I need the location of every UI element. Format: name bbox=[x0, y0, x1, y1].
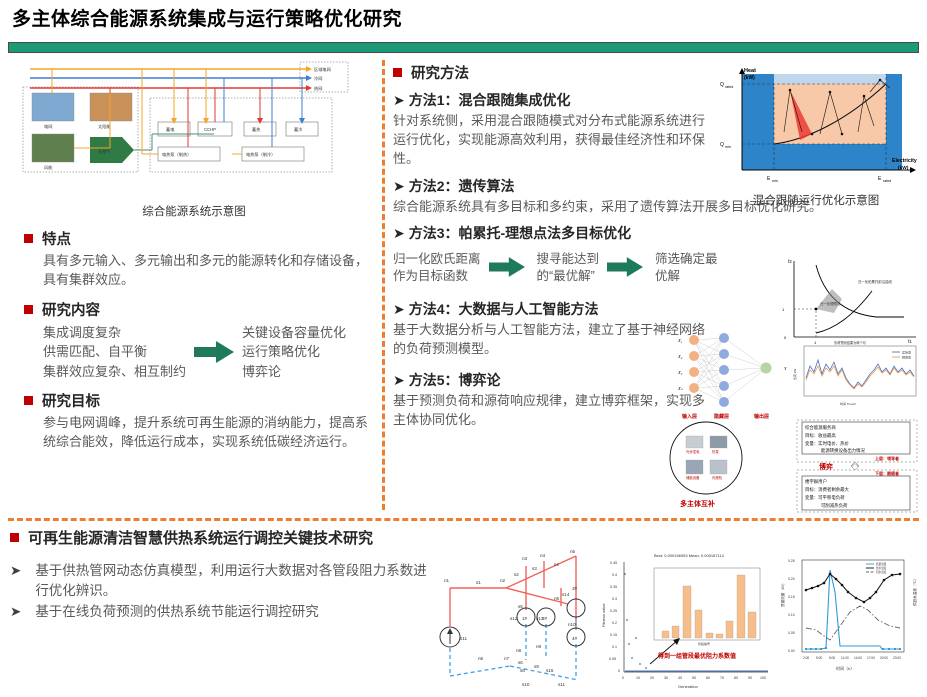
section-features-heading-text: 特点 bbox=[42, 228, 71, 249]
svg-text:s1: s1 bbox=[476, 580, 481, 585]
svg-text:目标：收益最高: 目标：收益最高 bbox=[805, 432, 836, 439]
bottom-list: ➤ 基于供热管网动态仿真模型，利用运行大数据对各管段阻力系数进行优化辨识。 ➤ … bbox=[10, 561, 430, 622]
svg-text:23:00: 23:00 bbox=[893, 656, 901, 660]
content-right-line-3: 博弈论 bbox=[242, 362, 346, 382]
method-3-flow: 归一化欧氏距离作为目标函数 搜寻能达到的“最优解” 筛选确定最优解 bbox=[393, 251, 713, 285]
left-column: 区域电网 冷网 热网 电网 太阳能 风能 天然气 蓄电 CCHP bbox=[10, 60, 378, 452]
figure-hybrid-following: Heat (kW) Q rated Q min E min E rated El… bbox=[712, 62, 920, 187]
bullet-square-icon bbox=[24, 234, 33, 243]
svg-text:min: min bbox=[725, 145, 731, 149]
figure-multi-agent-circle: 光伏发电 热泵 储能设备 内燃机 多主体互补 bbox=[648, 418, 764, 510]
svg-text:内燃机: 内燃机 bbox=[712, 475, 723, 480]
svg-text:0.00: 0.00 bbox=[788, 649, 795, 653]
vertical-divider bbox=[382, 60, 385, 510]
section-content-heading: 研究内容 bbox=[24, 299, 378, 320]
svg-text:s9: s9 bbox=[534, 664, 539, 669]
bottom-list-item: ➤ 基于在线负荷预测的供热系统节能运行调控研究 bbox=[10, 602, 430, 622]
svg-text:20:00: 20:00 bbox=[880, 656, 888, 660]
source-label-gas: 天然气 bbox=[98, 148, 111, 155]
svg-text:Q: Q bbox=[720, 82, 724, 88]
svg-text:60: 60 bbox=[706, 676, 710, 680]
section-features: 特点 具有多元输入、多元输出和多元的能源转化和存储设备，具有集群效应。 bbox=[10, 228, 378, 290]
source-label-wind: 风能 bbox=[44, 164, 53, 171]
svg-text:s15: s15 bbox=[546, 668, 554, 673]
svg-text:14:00: 14:00 bbox=[854, 656, 862, 660]
svg-text:90: 90 bbox=[748, 676, 752, 680]
section-features-body: 具有多元输入、多元输出和多元的能源转化和存储设备，具有集群效应。 bbox=[43, 252, 378, 290]
svg-text:0.35: 0.35 bbox=[610, 585, 617, 589]
green-arrow-icon bbox=[489, 257, 529, 279]
svg-text:综合能源服务商: 综合能源服务商 bbox=[805, 424, 836, 431]
chevron-right-icon: ➤ bbox=[10, 602, 21, 622]
svg-text:质量流量: 质量流量 bbox=[876, 562, 887, 566]
svg-text:(kW): (kW) bbox=[744, 75, 755, 81]
figure-stackelberg-game: 综合能源服务商 目标：收益最高 变量：实时电价、热价 能源转换设备出力情况 上层… bbox=[795, 418, 921, 514]
section-goals-heading-text: 研究目标 bbox=[42, 390, 100, 411]
svg-text:供回水温度（°C）: 供回水温度（°C） bbox=[912, 577, 917, 606]
flow-step-3: 筛选确定最优解 bbox=[655, 251, 718, 285]
svg-text:时间 Time/h: 时间 Time/h bbox=[840, 401, 856, 406]
svg-text:负荷 kW: 负荷 kW bbox=[792, 369, 797, 380]
svg-text:s11: s11 bbox=[558, 682, 566, 687]
svg-text:0.15: 0.15 bbox=[610, 633, 617, 637]
svg-text:80: 80 bbox=[734, 676, 738, 680]
svg-text:17:00: 17:00 bbox=[867, 656, 875, 660]
svg-text:供水温度: 供水温度 bbox=[876, 566, 887, 570]
section-content-heading-text: 研究内容 bbox=[42, 299, 100, 320]
svg-text:上层：领导者: 上层：领导者 bbox=[875, 455, 899, 461]
flow-step-1: 归一化欧氏距离作为目标函数 bbox=[393, 251, 481, 285]
svg-text:0.10: 0.10 bbox=[788, 613, 795, 617]
horizontal-divider bbox=[8, 518, 919, 521]
content-right-line-2: 运行策略优化 bbox=[242, 342, 346, 362]
ga-annotation: 得到一组管段最优阻力系数值 bbox=[657, 652, 736, 660]
svg-text:11:00: 11:00 bbox=[841, 656, 849, 660]
svg-text:3#: 3# bbox=[572, 586, 578, 591]
svg-text:30: 30 bbox=[664, 676, 668, 680]
svg-text:2#: 2# bbox=[542, 616, 548, 621]
method-3-label: ➤方法3：帕累托-理想点法多目标优化 bbox=[393, 223, 713, 243]
svg-text:100: 100 bbox=[760, 676, 766, 680]
chevron-right-icon: ➤ bbox=[393, 225, 405, 241]
svg-text:0.2: 0.2 bbox=[612, 621, 617, 625]
methods-heading-text: 研究方法 bbox=[411, 62, 469, 83]
green-arrow-icon bbox=[194, 341, 234, 363]
svg-text:0.4: 0.4 bbox=[612, 573, 617, 577]
device-label-coldstore: 蓄冷 bbox=[294, 126, 302, 133]
svg-text:归一化理想点: 归一化理想点 bbox=[820, 301, 841, 306]
svg-text:20: 20 bbox=[650, 676, 654, 680]
content-left-line-1: 集成调度复杂 bbox=[43, 323, 186, 343]
svg-text:s3: s3 bbox=[532, 566, 537, 571]
svg-text:Electricity: Electricity bbox=[892, 158, 917, 164]
svg-text:变量：实时电价、热价: 变量：实时电价、热价 bbox=[805, 440, 850, 447]
device-label-cchp: CCHP bbox=[204, 127, 216, 132]
svg-text:2:00: 2:00 bbox=[803, 656, 809, 660]
nn-input-3: X₃ bbox=[677, 370, 683, 375]
method-4-label: ➤方法4：大数据与人工智能方法 bbox=[393, 299, 713, 319]
svg-text:8:00: 8:00 bbox=[829, 656, 835, 660]
svg-text:质量流量（t/h）: 质量流量（t/h） bbox=[780, 581, 785, 607]
bullet-square-icon bbox=[10, 533, 19, 542]
svg-text:储能设备: 储能设备 bbox=[686, 475, 700, 480]
figure-hybrid-caption: 混合跟随运行优化示意图 bbox=[712, 192, 920, 208]
section-goals: 研究目标 参与电网调峰，提升系统可再生能源的消纳能力，提高系统综合能效，降低运行… bbox=[10, 390, 378, 452]
svg-text:变量：可平移电负荷: 变量：可平移电负荷 bbox=[805, 494, 845, 501]
section-content-flow: 集成调度复杂 供需匹配、自平衡 集群效应复杂、相互制约 关键设备容量优化 运行策… bbox=[43, 323, 378, 382]
content-col-right: 关键设备容量优化 运行策略优化 博弈论 bbox=[242, 323, 346, 382]
chevron-right-icon: ➤ bbox=[393, 92, 405, 108]
bullet-square-icon bbox=[24, 305, 33, 314]
energy-system-diagram-caption: 综合能源系统示意图 bbox=[10, 203, 378, 219]
figure-load-forecast: 实际值 预测值 负荷预测结果为两个月 时间 Time/h 负荷 kW bbox=[788, 340, 920, 410]
method-2-label: ➤方法2：遗传算法 bbox=[393, 176, 713, 196]
svg-text:负荷预测结果为两个月: 负荷预测结果为两个月 bbox=[834, 340, 866, 345]
device-label-battery: 蓄电 bbox=[166, 126, 175, 133]
figure-heating-timeseries: 0.250.20 0.150.10 0.050.00 2:005:00 8:00… bbox=[778, 548, 923, 693]
section-content: 研究内容 集成调度复杂 供需匹配、自平衡 集群效应复杂、相互制约 关键设备容量优… bbox=[10, 299, 378, 382]
method-1-label: ➤方法1：混合跟随集成优化 bbox=[393, 90, 713, 110]
page-title: 多主体综合能源系统集成与运行策略优化研究 bbox=[12, 4, 402, 31]
svg-text:s10: s10 bbox=[522, 682, 530, 687]
content-right-line-1: 关键设备容量优化 bbox=[242, 323, 346, 343]
svg-text:rated: rated bbox=[725, 85, 733, 89]
svg-text:0.15: 0.15 bbox=[788, 595, 795, 599]
svg-text:可削减热负荷: 可削减热负荷 bbox=[821, 502, 848, 509]
svg-text:n6: n6 bbox=[478, 656, 484, 661]
content-left-line-2: 供需匹配、自平衡 bbox=[43, 342, 186, 362]
svg-text:s5: s5 bbox=[518, 604, 523, 609]
svg-text:40: 40 bbox=[678, 676, 682, 680]
nn-output: Y bbox=[784, 366, 787, 371]
header-accent-bar bbox=[8, 42, 919, 53]
svg-text:楼宇群用户: 楼宇群用户 bbox=[805, 478, 827, 485]
svg-text:能源转换设备出力情况: 能源转换设备出力情况 bbox=[821, 447, 866, 454]
svg-text:0.25: 0.25 bbox=[610, 609, 617, 613]
svg-text:0.3: 0.3 bbox=[612, 597, 617, 601]
method-1-body: 针对系统侧，采用混合跟随模式对分布式能源系统进行运行优化，实现能源高效利用，获得… bbox=[393, 112, 713, 169]
svg-text:0.45: 0.45 bbox=[610, 561, 617, 565]
svg-text:时间（h）: 时间（h） bbox=[836, 665, 854, 671]
figure-ga-fitness: Best: 0.000156953 Mean: 0.000187114 0.45… bbox=[596, 548, 776, 693]
svg-text:n5: n5 bbox=[570, 549, 576, 554]
svg-text:rated: rated bbox=[883, 179, 891, 183]
svg-text:min: min bbox=[772, 179, 778, 183]
nn-input-2: X₂ bbox=[677, 354, 683, 359]
energy-system-diagram: 区域电网 冷网 热网 电网 太阳能 风能 天然气 蓄电 CCHP bbox=[10, 60, 378, 200]
svg-text:预测值: 预测值 bbox=[902, 355, 911, 360]
svg-text:n4: n4 bbox=[540, 553, 546, 558]
bottom-heading: 可再生能源清洁智慧供热系统运行调控关键技术研究 bbox=[10, 527, 430, 548]
bus-label-cooling: 冷网 bbox=[314, 75, 322, 82]
svg-text:0: 0 bbox=[622, 676, 624, 680]
bottom-list-item-text: 基于在线负荷预测的供热系统节能运行调控研究 bbox=[35, 602, 319, 622]
svg-text:(kW): (kW) bbox=[898, 165, 909, 171]
svg-text:Heat: Heat bbox=[744, 68, 756, 74]
svg-text:目标：消费者剩余最大: 目标：消费者剩余最大 bbox=[805, 486, 850, 493]
svg-text:Generation: Generation bbox=[678, 684, 698, 689]
svg-text:回水温度: 回水温度 bbox=[876, 570, 887, 574]
bus-label-grid: 区域电网 bbox=[314, 66, 331, 73]
svg-text:n3: n3 bbox=[522, 556, 528, 561]
svg-text:下层：跟随者: 下层：跟随者 bbox=[875, 470, 899, 476]
source-label-grid: 电网 bbox=[44, 123, 52, 130]
svg-text:s11: s11 bbox=[460, 636, 468, 641]
figure-pipe-network: n1n2 n3n4 n5n6 n10n6 n7n8 n9 s1s2 s3s4 s… bbox=[418, 548, 598, 693]
svg-text:n6: n6 bbox=[554, 596, 560, 601]
nn-input-1: X₁ bbox=[677, 338, 683, 343]
bullet-square-icon bbox=[24, 396, 33, 405]
svg-text:s12: s12 bbox=[510, 616, 518, 621]
svg-text:1#: 1# bbox=[522, 616, 528, 621]
svg-text:s8: s8 bbox=[520, 668, 525, 673]
game-label: 博弈 bbox=[819, 462, 833, 471]
chevron-right-icon: ➤ bbox=[10, 561, 21, 600]
chevron-right-icon: ➤ bbox=[393, 178, 405, 194]
svg-text:Q: Q bbox=[720, 142, 724, 148]
content-left-line-3: 集群效应复杂、相互制约 bbox=[43, 362, 186, 382]
methods-heading: 研究方法 bbox=[393, 62, 713, 83]
section-goals-body: 参与电网调峰，提升系统可再生能源的消纳能力，提高系统综合能效，降低运行成本，实现… bbox=[43, 414, 378, 452]
svg-text:50: 50 bbox=[692, 676, 696, 680]
svg-text:归一化帕累托前沿曲线: 归一化帕累托前沿曲线 bbox=[858, 279, 893, 284]
section-features-heading: 特点 bbox=[24, 228, 378, 249]
bottom-section: 可再生能源清洁智慧供热系统运行调控关键技术研究 ➤ 基于供热管网动态仿真模型，利… bbox=[10, 527, 430, 624]
svg-text:0.25: 0.25 bbox=[788, 559, 795, 563]
svg-text:0.1: 0.1 bbox=[612, 645, 617, 649]
svg-text:热泵: 热泵 bbox=[712, 449, 719, 454]
svg-text:n7: n7 bbox=[504, 656, 510, 661]
svg-text:n1: n1 bbox=[444, 578, 450, 583]
bottom-list-item: ➤ 基于供热管网动态仿真模型，利用运行大数据对各管段阻力系数进行优化辨识。 bbox=[10, 561, 430, 600]
bus-label-heating: 热网 bbox=[314, 85, 322, 92]
svg-text:4#: 4# bbox=[572, 636, 578, 641]
bullet-square-icon bbox=[393, 68, 402, 77]
svg-text:n2: n2 bbox=[500, 578, 506, 583]
svg-text:0: 0 bbox=[618, 669, 620, 673]
flow-step-2: 搜寻能达到的“最优解” bbox=[537, 251, 600, 285]
svg-text:n10: n10 bbox=[568, 622, 576, 627]
svg-text:s4: s4 bbox=[554, 562, 559, 567]
nn-input-4: Xₙ bbox=[677, 386, 683, 391]
svg-text:光伏发电: 光伏发电 bbox=[686, 449, 700, 454]
device-label-hp-cooling: 电热泵（制冷） bbox=[246, 151, 275, 158]
svg-text:Fitness value: Fitness value bbox=[601, 603, 606, 627]
svg-text:管段编号: 管段编号 bbox=[698, 641, 710, 646]
svg-text:s2: s2 bbox=[514, 572, 519, 577]
figure-neural-network: X₁ X₂ X₃ Xₙ Y 输入层 隐藏层 输出层 bbox=[662, 330, 802, 422]
bottom-heading-text: 可再生能源清洁智慧供热系统运行调控关键技术研究 bbox=[28, 527, 373, 548]
green-arrow-icon bbox=[607, 257, 647, 279]
svg-text:实际值: 实际值 bbox=[902, 350, 911, 355]
svg-text:10: 10 bbox=[636, 676, 640, 680]
device-label-hp-heating: 电热泵（制热） bbox=[162, 151, 191, 158]
svg-text:s14: s14 bbox=[562, 592, 570, 597]
ga-title: Best: 0.000156953 Mean: 0.000187114 bbox=[654, 553, 725, 558]
svg-text:0.05: 0.05 bbox=[788, 631, 795, 635]
chevron-right-icon: ➤ bbox=[393, 301, 405, 317]
svg-text:n8: n8 bbox=[516, 648, 522, 653]
device-label-heatstore: 蓄热 bbox=[252, 126, 261, 133]
section-goals-heading: 研究目标 bbox=[24, 390, 378, 411]
slide-root: 多主体综合能源系统集成与运行策略优化研究 区域电网 冷网 热网 bbox=[0, 0, 927, 697]
source-label-solar: 太阳能 bbox=[98, 123, 111, 130]
bottom-list-item-text: 基于供热管网动态仿真模型，利用运行大数据对各管段阻力系数进行优化辨识。 bbox=[35, 561, 430, 600]
svg-text:5:00: 5:00 bbox=[816, 656, 822, 660]
circle-caption: 多主体互补 bbox=[680, 499, 715, 508]
svg-text:s6: s6 bbox=[518, 660, 523, 665]
svg-text:f2: f2 bbox=[788, 259, 792, 264]
chevron-right-icon: ➤ bbox=[393, 372, 405, 388]
content-col-left: 集成调度复杂 供需匹配、自平衡 集群效应复杂、相互制约 bbox=[43, 323, 186, 382]
svg-text:n9: n9 bbox=[536, 644, 542, 649]
svg-text:0.05: 0.05 bbox=[609, 657, 616, 661]
svg-text:0.20: 0.20 bbox=[788, 577, 795, 581]
svg-text:70: 70 bbox=[720, 676, 724, 680]
